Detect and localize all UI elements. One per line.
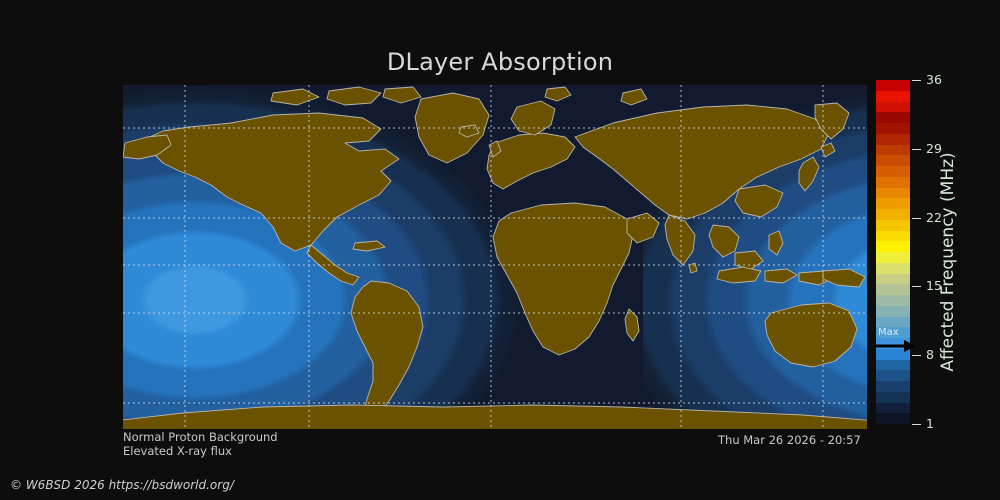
colorbar-band-28 <box>876 112 910 123</box>
colorbar-band-20 <box>876 198 910 209</box>
colorbar-band-9 <box>876 317 910 328</box>
colorbar-band-26 <box>876 134 910 145</box>
colorbar-band-0 <box>876 413 910 424</box>
colorbar-tick-29 <box>912 149 921 150</box>
colorbar[interactable]: 1815222936 Affected Frequency (MHz) Max <box>876 80 996 424</box>
colorbar-band-15 <box>876 252 910 263</box>
colorbar-band-17 <box>876 231 910 242</box>
colorbar-band-19 <box>876 209 910 220</box>
colorbar-band-23 <box>876 166 910 177</box>
status-xray-flux: Elevated X-ray flux <box>123 444 232 458</box>
colorbar-band-27 <box>876 123 910 134</box>
map-canvas <box>123 85 867 429</box>
page-title: DLayer Absorption <box>0 48 1000 76</box>
copyright-notice: © W6BSD 2026 https://bsdworld.org/ <box>10 478 234 492</box>
colorbar-tick-36 <box>912 80 921 81</box>
colorbar-tick-label-1: 1 <box>926 418 934 431</box>
colorbar-band-11 <box>876 295 910 306</box>
status-proton-background: Normal Proton Background <box>123 430 278 444</box>
dlayer-absorption-screen: DLayer Absorption <box>0 0 1000 500</box>
world-absorption-map[interactable] <box>123 85 867 429</box>
colorbar-band-30 <box>876 91 910 102</box>
colorbar-band-10 <box>876 306 910 317</box>
max-marker: Max <box>876 327 916 357</box>
colorbar-band-24 <box>876 155 910 166</box>
max-arrow-icon <box>876 339 916 353</box>
colorbar-tick-label-8: 8 <box>926 349 934 362</box>
colorbar-tick-1 <box>912 424 921 425</box>
colorbar-band-13 <box>876 274 910 285</box>
max-marker-label: Max <box>878 327 899 338</box>
colorbar-tick-label-36: 36 <box>926 74 942 87</box>
colorbar-band-21 <box>876 188 910 199</box>
timestamp: Thu Mar 26 2026 - 20:57 <box>718 433 861 447</box>
colorbar-tick-15 <box>912 286 921 287</box>
colorbar-tick-22 <box>912 218 921 219</box>
colorbar-band-14 <box>876 263 910 274</box>
colorbar-band-25 <box>876 145 910 156</box>
colorbar-band-22 <box>876 177 910 188</box>
colorbar-band-29 <box>876 102 910 113</box>
colorbar-band-3 <box>876 381 910 392</box>
colorbar-axis-label: Affected Frequency (MHz) <box>938 152 958 371</box>
colorbar-band-18 <box>876 220 910 231</box>
colorbar-band-31 <box>876 80 910 91</box>
colorbar-band-12 <box>876 284 910 295</box>
colorbar-band-5 <box>876 360 910 371</box>
colorbar-band-4 <box>876 370 910 381</box>
colorbar-bands <box>876 80 910 424</box>
colorbar-band-2 <box>876 392 910 403</box>
colorbar-band-16 <box>876 241 910 252</box>
colorbar-band-1 <box>876 403 910 414</box>
